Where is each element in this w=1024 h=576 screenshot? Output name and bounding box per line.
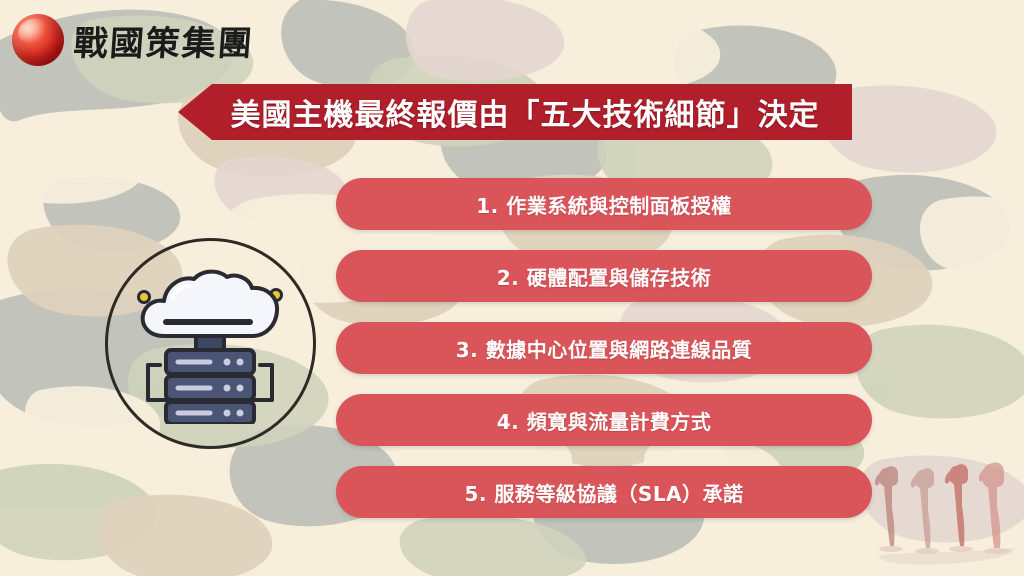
list-item[interactable]: 2. 硬體配置與儲存技術 — [336, 250, 872, 302]
slide-canvas: 戰國策集團 美國主機最終報價由「五大技術細節」決定 — [0, 0, 1024, 576]
brand-name: 戰國策集團 — [72, 16, 255, 65]
list-item[interactable]: 4. 頻寬與流量計費方式 — [336, 394, 872, 446]
list-item-label: 1. 作業系統與控制面板授權 — [476, 190, 731, 219]
detail-list: 1. 作業系統與控制面板授權 2. 硬體配置與儲存技術 3. 數據中心位置與網路… — [336, 178, 872, 518]
saluting-soldiers-illustration — [864, 446, 1024, 576]
list-item-label: 5. 服務等級協議（SLA）承諾 — [464, 478, 743, 507]
title-banner: 美國主機最終報價由「五大技術細節」決定 — [178, 84, 852, 140]
list-item-label: 4. 頻寬與流量計費方式 — [497, 406, 711, 435]
list-item-label: 2. 硬體配置與儲存技術 — [497, 262, 711, 291]
page-title: 美國主機最終報價由「五大技術細節」決定 — [231, 90, 820, 134]
cloud-server-icon — [126, 264, 296, 424]
list-item[interactable]: 5. 服務等級協議（SLA）承諾 — [336, 466, 872, 518]
cloud-server-icon-circle — [105, 238, 316, 449]
list-item-label: 3. 數據中心位置與網路連線品質 — [456, 334, 752, 363]
list-item[interactable]: 3. 數據中心位置與網路連線品質 — [336, 322, 872, 374]
red-orb-logo-icon — [12, 14, 64, 66]
brand-logo: 戰國策集團 — [12, 14, 254, 66]
list-item[interactable]: 1. 作業系統與控制面板授權 — [336, 178, 872, 230]
